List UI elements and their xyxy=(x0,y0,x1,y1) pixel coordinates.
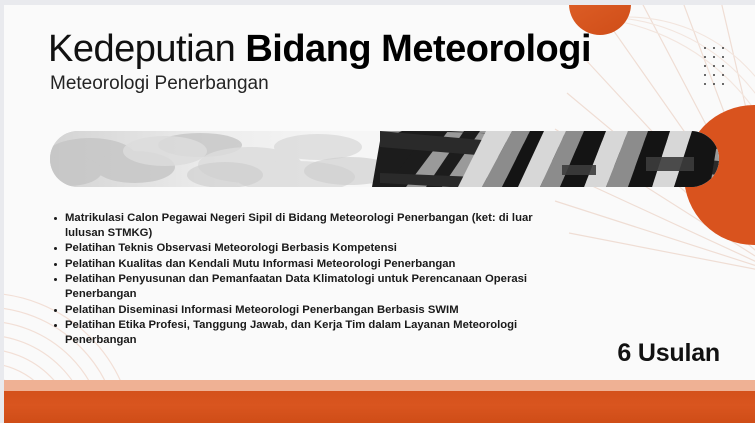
list-item: Pelatihan Teknis Observasi Meteorologi B… xyxy=(52,241,557,256)
list-item: Matrikulasi Calon Pegawai Negeri Sipil d… xyxy=(52,211,557,240)
title-bold-part: Bidang Meteorologi xyxy=(245,28,591,70)
list-item: Pelatihan Kualitas dan Kendali Mutu Info… xyxy=(52,257,557,272)
banner-photo-graphic xyxy=(50,131,719,187)
list-item: Pelatihan Diseminasi Informasi Meteorolo… xyxy=(52,303,557,318)
page-subtitle: Meteorologi Penerbangan xyxy=(50,72,591,96)
bottom-peach-band xyxy=(4,380,755,391)
proposal-list: Matrikulasi Calon Pegawai Negeri Sipil d… xyxy=(52,211,557,348)
title-light-part: Kedeputian xyxy=(48,28,245,70)
page-title: Kedeputian Bidang Meteorologi xyxy=(48,27,591,71)
bottom-orange-band xyxy=(4,391,755,423)
list-item: Pelatihan Penyusunan dan Pemanfaatan Dat… xyxy=(52,272,557,301)
dot-grid-icon xyxy=(704,47,731,92)
slide-canvas: Kedeputian Bidang Meteorologi Meteorolog… xyxy=(4,5,755,423)
banner-photo xyxy=(50,131,719,187)
list-item: Pelatihan Etika Profesi, Tanggung Jawab,… xyxy=(52,318,557,347)
proposal-count-label: 6 Usulan xyxy=(617,338,720,368)
heading-block: Kedeputian Bidang Meteorologi Meteorolog… xyxy=(48,27,591,96)
